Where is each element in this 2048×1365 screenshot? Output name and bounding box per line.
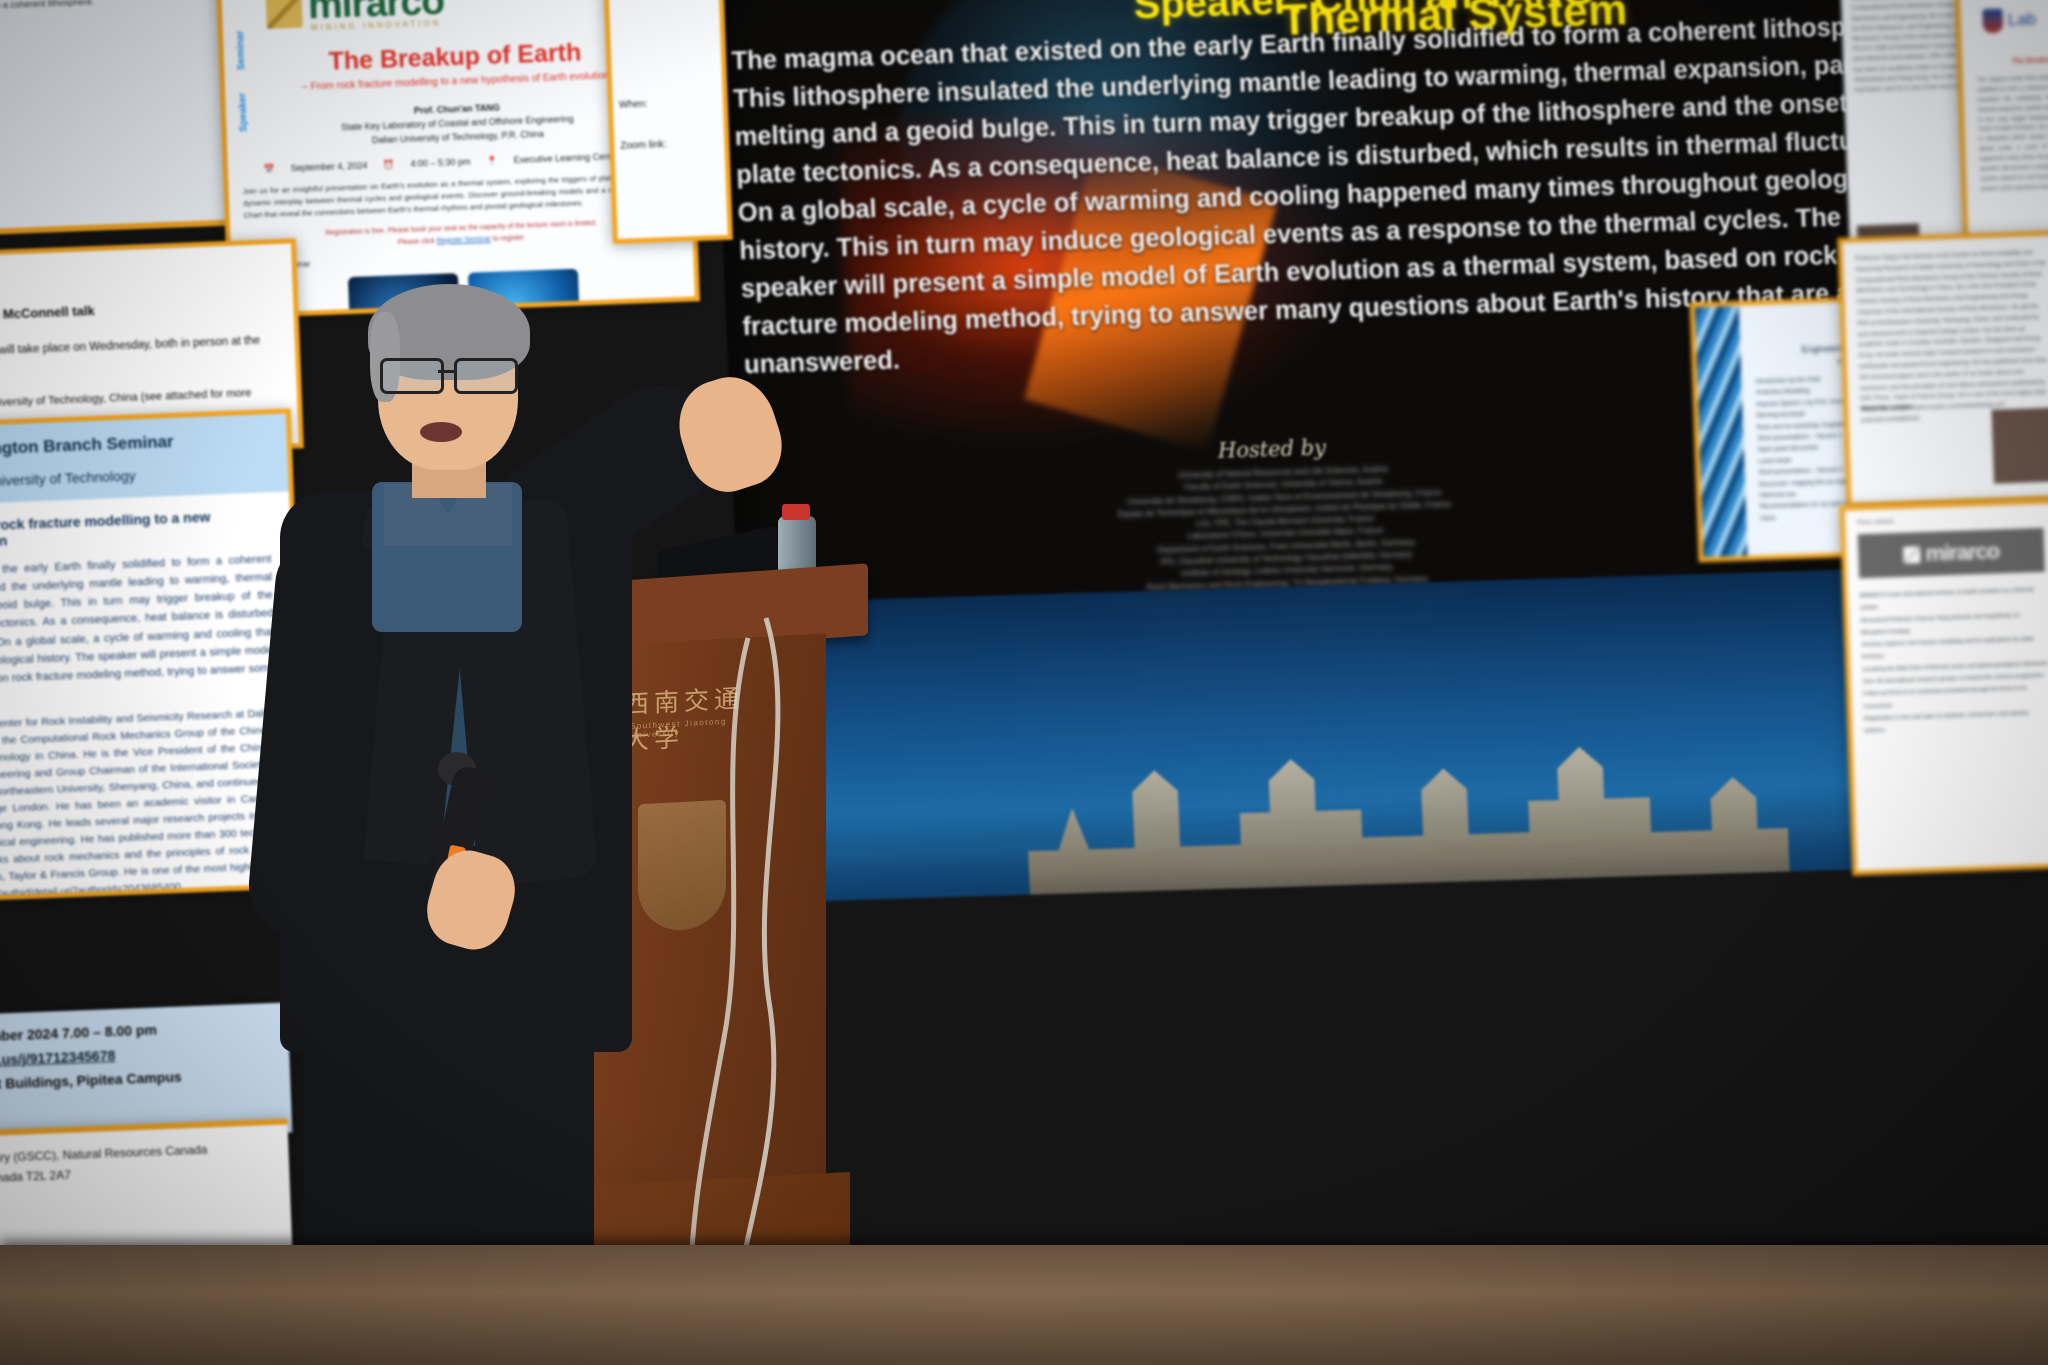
stage-floor (0, 1245, 2048, 1365)
lens-right (454, 358, 518, 394)
speaker-portrait (1991, 408, 2048, 484)
poster-zoom-details: When: Zoom link: (603, 0, 733, 244)
room-rest: , Government Buildings, Pipitea Campus (0, 1069, 182, 1095)
zoom-time-label: When: (608, 0, 723, 114)
poster-time: 4:00 – 5:30 pm (410, 157, 470, 169)
press-bullet: Registration is free and open to student… (1864, 707, 2048, 738)
speaker-label: Speaker (237, 93, 249, 132)
registration-line-3: to register. (493, 234, 526, 242)
speaker-person (252, 286, 722, 1365)
university-shield-logo (1982, 9, 2003, 34)
calendar-icon: 📅 (263, 164, 275, 175)
university-wordmark: Lab (2007, 9, 2036, 30)
clock-icon: ⏰ (383, 159, 395, 170)
mirarco-cube-icon (1903, 546, 1921, 564)
rock-ice-side-graphic (1695, 306, 1748, 557)
poster-top-left-text: The magma ocean that existed on the earl… (0, 0, 253, 22)
press-bullet-list: MIRARCO hosts international seminar on E… (1847, 579, 2048, 738)
mouth (420, 422, 462, 442)
poster-right-press-release: Press release mirarco MIRARCO hosts inte… (1840, 498, 2048, 875)
right-university-body: The magma ocean that existed on the earl… (1962, 61, 2048, 196)
bottle-cap (782, 504, 810, 520)
lens-left (380, 358, 444, 394)
right-university-title: The Breakup of Earth (1961, 28, 2048, 67)
press-mirarco-logo: mirarco (1858, 528, 2045, 578)
zoom-place-label: Zoom link: (613, 109, 724, 154)
poster-right-profile: Professor Tang is the Director of the Ce… (1837, 230, 2048, 508)
glasses-bridge (438, 370, 454, 373)
location-pin-icon: 📍 (486, 155, 498, 166)
register-seminar-link[interactable]: Register Seminar (437, 235, 491, 244)
registration-line-2: Please click (398, 237, 435, 245)
mirarco-cube-icon (266, 0, 303, 29)
poster-date: September 4, 2024 (291, 161, 368, 174)
presentation-photo-scene: The Breakup of Earth — Earth as a Therma… (0, 0, 2048, 1365)
press-release-heading: Press release (1845, 503, 2048, 526)
eyeglasses (380, 358, 520, 388)
right-profile-text: Professor Tang is the Director of the Ce… (1843, 235, 2048, 427)
mirarco-wordmark: mirarco (1925, 538, 2000, 567)
seminar-kind-label: Seminar (235, 30, 247, 70)
